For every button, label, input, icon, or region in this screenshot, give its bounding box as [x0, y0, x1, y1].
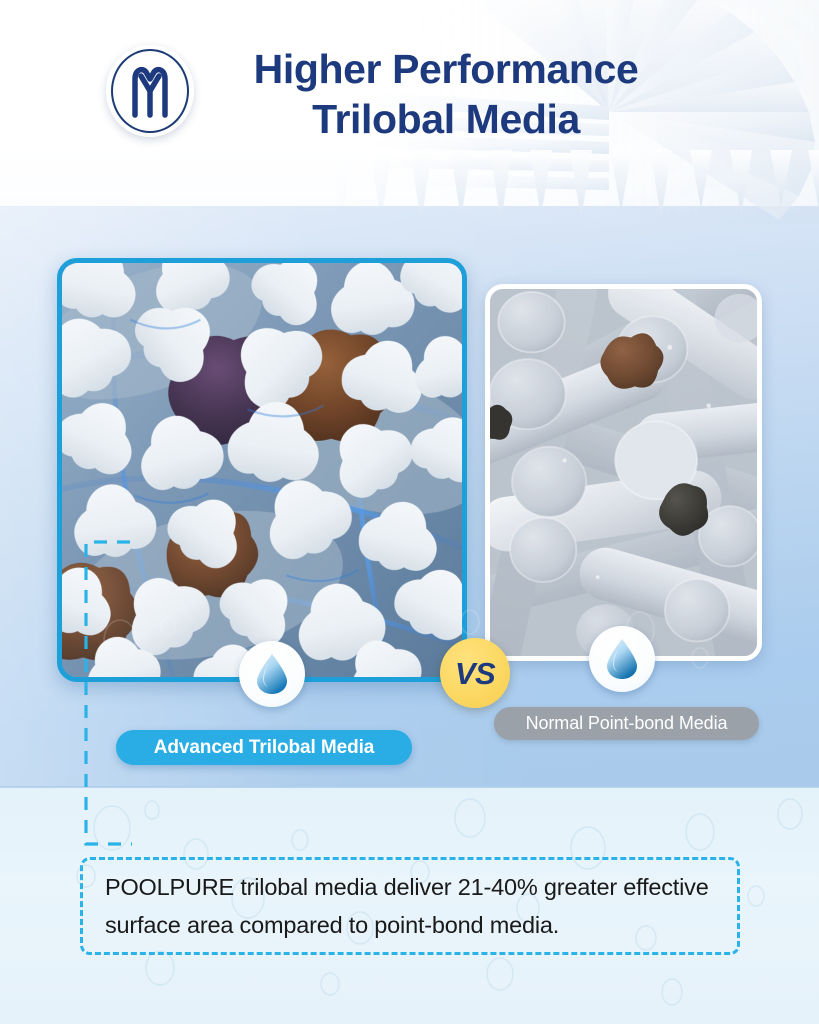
- water-droplet-badge-right: [589, 626, 655, 692]
- trilobal-media-panel[interactable]: [57, 258, 467, 682]
- vs-badge: VS: [440, 638, 510, 708]
- label-normal-point-bond-media-text: Normal Point-bond Media: [526, 713, 728, 734]
- infographic-canvas: Higher Performance Trilobal Media: [0, 0, 819, 1024]
- callout-text: POOLPURE trilobal media deliver 21-40% g…: [105, 868, 730, 944]
- vs-label: VS: [455, 658, 495, 689]
- label-normal-point-bond-media[interactable]: Normal Point-bond Media: [494, 707, 759, 740]
- page-title-line-1: Higher Performance: [206, 44, 686, 94]
- point-bond-media-panel[interactable]: [485, 284, 762, 661]
- trilobal-media-image: [62, 263, 462, 677]
- brand-logo-badge: [106, 45, 194, 137]
- point-bond-media-image: [490, 289, 757, 656]
- comparison-section: VS: [0, 206, 819, 790]
- label-advanced-trilobal-media[interactable]: Advanced Trilobal Media: [116, 730, 412, 765]
- water-droplet-icon: [256, 653, 288, 695]
- water-droplet-badge-left: [239, 641, 305, 707]
- water-droplet-icon: [606, 638, 638, 680]
- label-advanced-trilobal-media-text: Advanced Trilobal Media: [154, 737, 374, 759]
- page-title: Higher Performance Trilobal Media: [206, 44, 686, 144]
- page-title-line-2: Trilobal Media: [206, 94, 686, 144]
- trilobal-monogram-icon: [128, 63, 172, 119]
- header: Higher Performance Trilobal Media: [0, 0, 819, 200]
- logo-ring: [111, 49, 189, 133]
